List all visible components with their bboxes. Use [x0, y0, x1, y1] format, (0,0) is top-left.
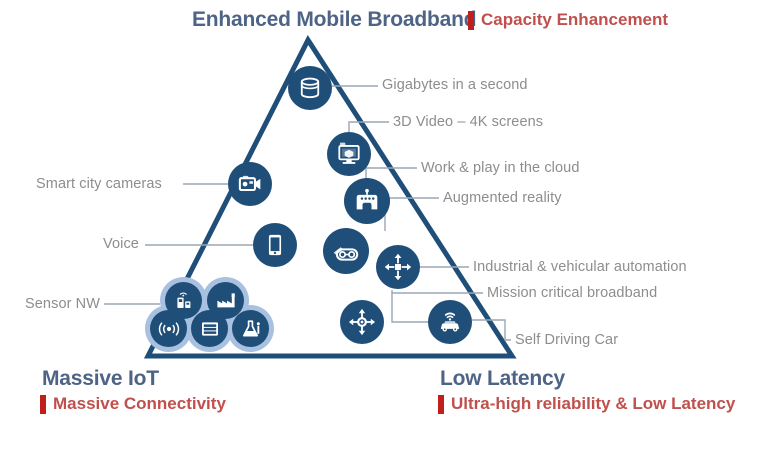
callout-label-gigabytes: Gigabytes in a second	[382, 77, 528, 93]
callout-label-ar: Augmented reality	[443, 190, 562, 206]
connected-car-icon	[428, 300, 472, 344]
four-arrow-automation-icon	[376, 245, 420, 289]
callout-label-cameras: Smart city cameras	[36, 176, 162, 192]
diagram-canvas: Enhanced Mobile Broadband Capacity Enhan…	[0, 0, 768, 453]
desktop-3d-video-icon	[327, 132, 371, 176]
database-icon	[288, 66, 332, 110]
red-bar-icon	[468, 11, 474, 30]
corner-subtitle-right: Ultra-high reliability & Low Latency	[438, 394, 735, 414]
callout-label-3d-video: 3D Video – 4K screens	[393, 114, 543, 130]
ar-glasses-icon	[323, 228, 369, 274]
corner-subtitle-left-text: Massive Connectivity	[53, 394, 226, 414]
corner-title-left: Massive IoT	[42, 367, 159, 391]
callout-label-mission: Mission critical broadband	[487, 285, 657, 301]
corner-subtitle-top: Capacity Enhancement	[468, 10, 668, 30]
vr-headset-icon	[344, 178, 390, 224]
wireless-sensor-icon	[150, 310, 187, 347]
red-bar-icon	[438, 395, 444, 414]
callout-label-cloud: Work & play in the cloud	[421, 160, 580, 176]
corner-title-top: Enhanced Mobile Broadband	[192, 8, 476, 32]
callout-label-voice: Voice	[103, 236, 139, 252]
callout-label-selfdriving: Self Driving Car	[515, 332, 618, 348]
video-camera-icon	[228, 162, 272, 206]
server-rack-icon	[191, 310, 228, 347]
corner-subtitle-left: Massive Connectivity	[40, 394, 226, 414]
smartphone-icon	[253, 223, 297, 267]
corner-title-right: Low Latency	[440, 367, 565, 391]
corner-subtitle-top-text: Capacity Enhancement	[481, 10, 668, 30]
connector-mission-drop	[392, 293, 430, 322]
red-bar-icon	[40, 395, 46, 414]
corner-subtitle-right-text: Ultra-high reliability & Low Latency	[451, 394, 735, 414]
callout-label-sensor: Sensor NW	[25, 296, 100, 312]
four-arrow-node-icon	[340, 300, 384, 344]
callout-label-industrial: Industrial & vehicular automation	[473, 259, 687, 275]
lab-flask-icon	[232, 310, 269, 347]
